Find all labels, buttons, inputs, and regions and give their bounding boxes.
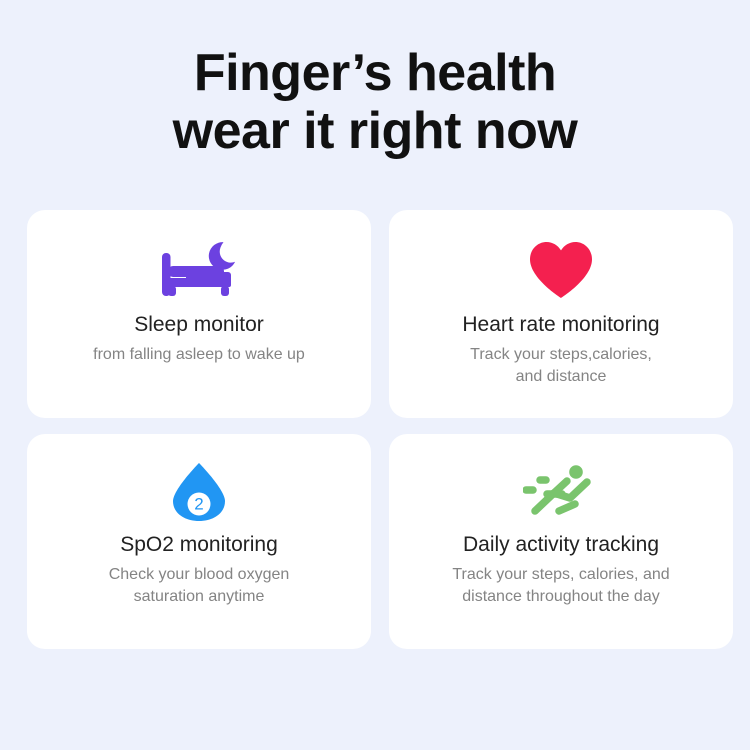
feature-card-spo2: 2 SpO2 monitoring Check your blood oxyge… (27, 434, 371, 649)
feature-card-description: Check your blood oxygen saturation anyti… (95, 564, 304, 607)
page-title-line-2: wear it right now (40, 102, 710, 160)
water-drop-o2-icon: 2 (169, 460, 229, 524)
feature-card-daily-activity: Daily activity tracking Track your steps… (389, 434, 733, 649)
page-title-line-1: Finger’s health (40, 44, 710, 102)
feature-card-heart-rate: Heart rate monitoring Track your steps,c… (389, 210, 733, 418)
feature-card-title: Daily activity tracking (463, 532, 659, 557)
promo-page: Finger’s health wear it right now (0, 0, 750, 750)
feature-card-description: Track your steps, calories, and distance… (438, 564, 683, 607)
water-drop-o2-label: 2 (194, 495, 203, 514)
feature-card-title: Heart rate monitoring (462, 312, 659, 337)
page-title: Finger’s health wear it right now (0, 0, 750, 160)
feature-card-title: SpO2 monitoring (120, 532, 278, 557)
feature-card-description: Track your steps,calories, and distance (456, 344, 666, 387)
feature-card-sleep-monitor: Sleep monitor from falling asleep to wak… (27, 210, 371, 418)
heart-icon (528, 236, 594, 304)
feature-card-grid: Sleep monitor from falling asleep to wak… (27, 210, 723, 649)
running-person-icon (523, 460, 599, 524)
bed-moon-icon (160, 236, 238, 304)
feature-card-title: Sleep monitor (134, 312, 264, 337)
feature-card-description: from falling asleep to wake up (79, 344, 319, 366)
